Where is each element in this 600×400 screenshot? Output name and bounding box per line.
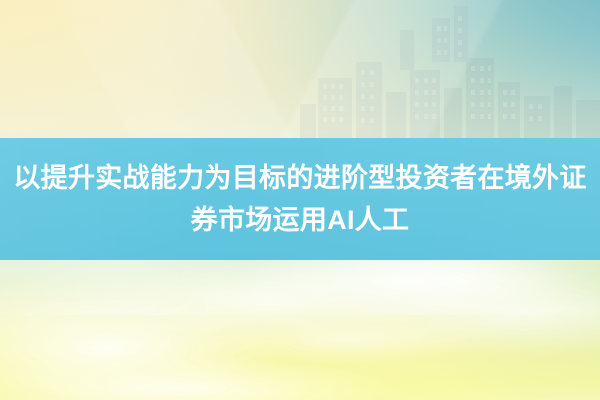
banner-card: 以提升实战能力为目标的进阶型投资者在境外证券市场运用AI人工	[0, 0, 600, 400]
banner-title-line-2: 市场运用AI人工	[218, 205, 409, 235]
cloud-texture-streak	[0, 280, 600, 400]
banner-title: 以提升实战能力为目标的进阶型投资者在境外证券市场运用AI人工	[0, 157, 600, 241]
title-band: 以提升实战能力为目标的进阶型投资者在境外证券市场运用AI人工	[0, 138, 600, 260]
diagonal-light-wedge-secondary	[0, 0, 600, 140]
